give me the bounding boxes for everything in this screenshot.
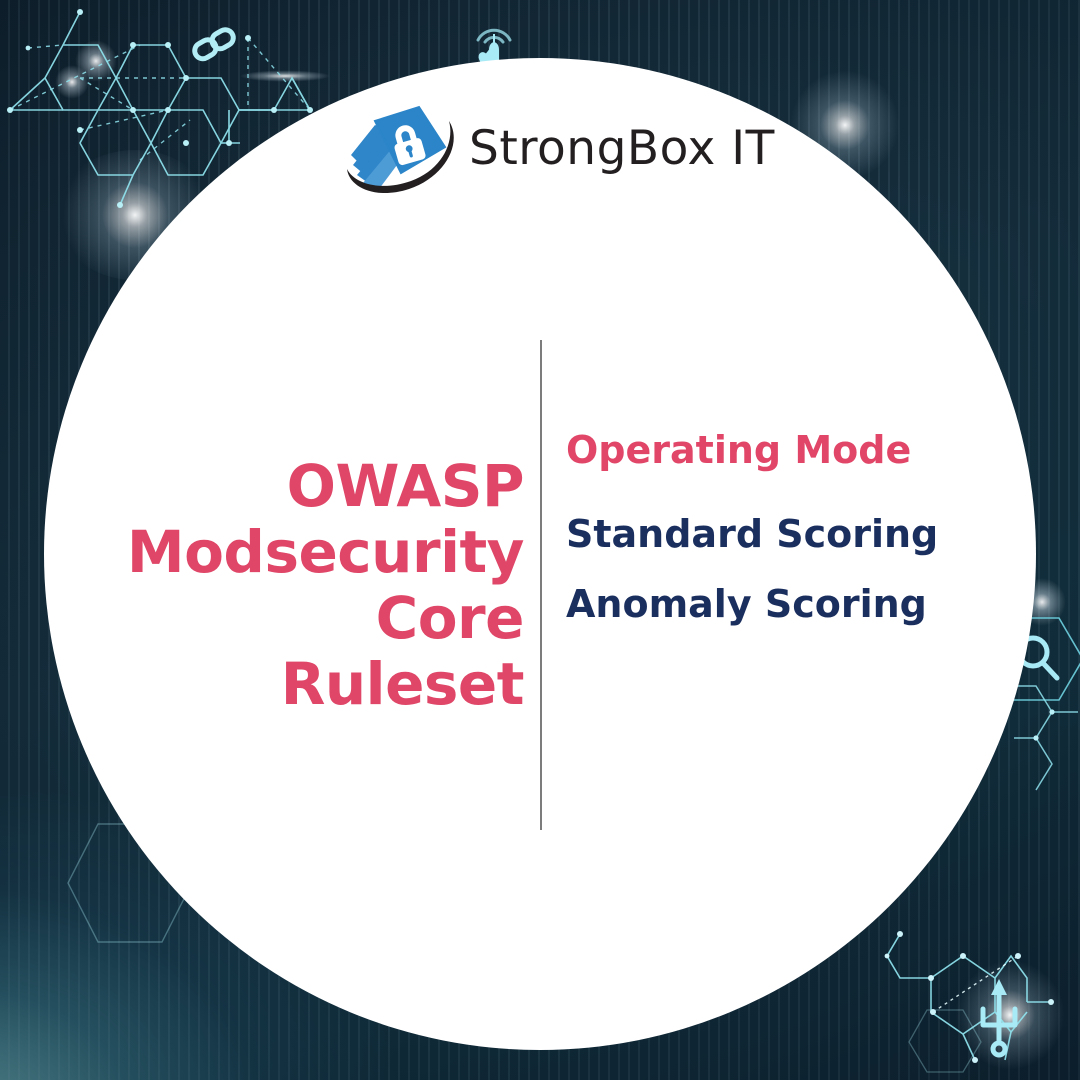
headline-column: OWASPModsecurityCoreRuleset	[150, 330, 540, 840]
headline-line-4: Ruleset	[281, 650, 524, 718]
headline-line-1: OWASP	[287, 452, 524, 520]
headline-line-3: Core	[376, 584, 524, 652]
operating-mode-title: Operating Mode	[566, 428, 940, 472]
page-title: OWASPModsecurityCoreRuleset	[127, 453, 524, 717]
brand-logo: StrongBox IT	[345, 98, 745, 198]
poster-canvas: StrongBox IT OWASPModsecurityCoreRuleset…	[0, 0, 1080, 1080]
brand-name: StrongBox IT	[469, 121, 775, 176]
content-block: OWASPModsecurityCoreRuleset Operating Mo…	[150, 330, 940, 840]
padlock-book-icon	[345, 99, 463, 197]
operating-mode-column: Operating Mode Standard Scoring Anomaly …	[542, 330, 940, 840]
mode-item-standard-scoring: Standard Scoring	[566, 510, 940, 558]
headline-line-2: Modsecurity	[127, 518, 524, 586]
modes-spacer	[566, 330, 940, 428]
mode-item-anomaly-scoring: Anomaly Scoring	[566, 580, 940, 628]
